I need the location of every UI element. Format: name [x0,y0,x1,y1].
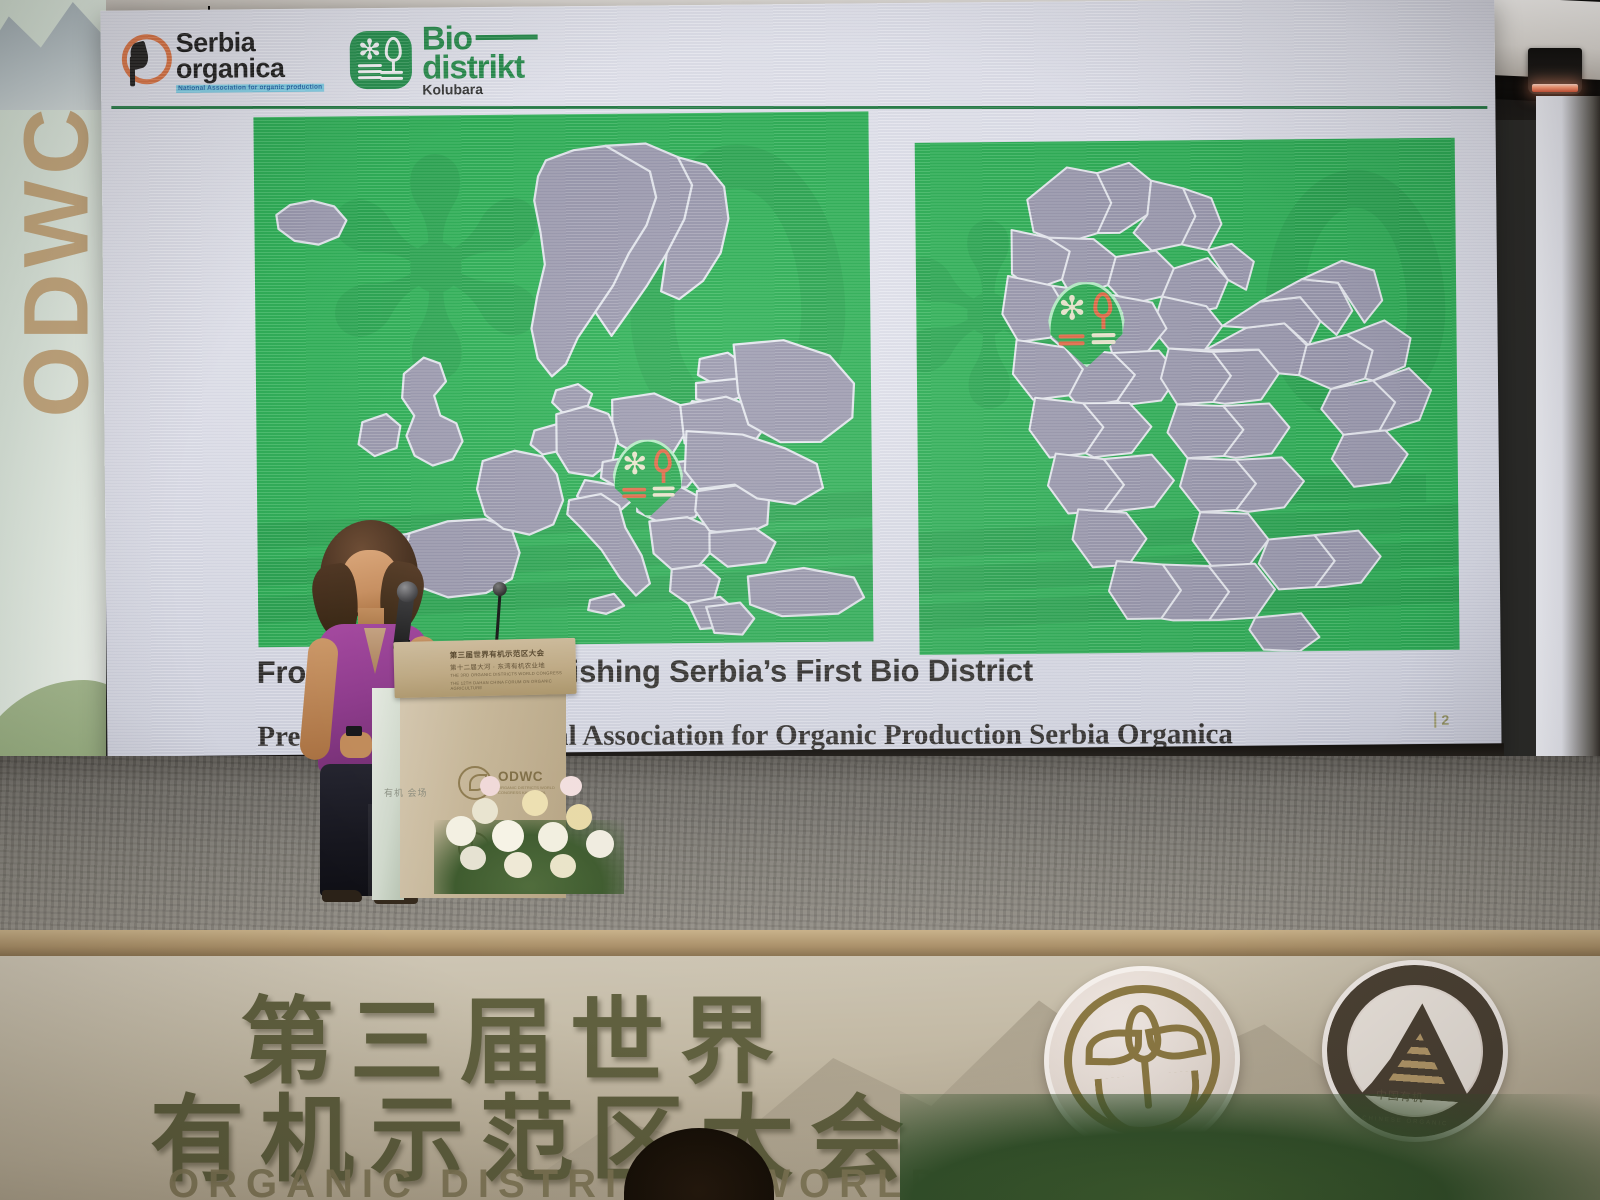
bio-distrikt-line2: distrikt [422,51,538,81]
left-wall-banner: ODWC [0,0,106,800]
starburst-icon: ✻ [622,452,646,476]
conference-stage-photo: ODWC Serbia organica National Associatio… [0,0,1600,1200]
flower [560,776,582,796]
speaker-left-shoe [322,890,362,902]
starburst-icon: ✻ [1058,295,1084,321]
wave-icon [358,70,382,73]
bio-distrikt-wordmark: Bio distrikt Kolubara [422,22,539,95]
serbia-organica-mark-icon [119,34,172,90]
wave-icon [1059,341,1085,345]
podium-side-text: 有机 会场 [384,788,428,799]
field-line-icon [380,76,403,80]
bio-district-map-pin: ✻ [1047,281,1126,368]
flower [538,822,568,852]
field-line-icon [380,70,403,74]
slide-page-number: 2 [1434,712,1449,728]
right-wall [1536,96,1600,776]
field-line-icon [1092,333,1116,337]
bio-distrikt-mark-icon: ✻ [350,31,413,90]
flower [550,854,576,878]
flower [522,790,548,816]
odwc-vertical-text: ODWC [5,148,107,418]
field-line-icon [1092,340,1116,344]
banner-mountain-graphic [0,0,106,110]
wave-icon [622,488,646,492]
bio-district-map-pin: ✻ [612,439,685,519]
leaf-icon [1085,1029,1142,1066]
bio-distrikt-logo: ✻ Bio distrikt Kolubara [350,22,539,96]
serbia-map: ✻ [915,138,1460,655]
flower [566,804,592,830]
flower [460,846,486,870]
podium-header-cn1: 第三届世界有机示范区大会 [450,648,545,661]
leaf-stem-icon [130,56,135,86]
flower [472,798,498,824]
leaf-stem-icon [662,470,666,483]
field-line-icon [653,493,675,497]
stage-light [1528,48,1582,94]
wave-icon [1059,334,1085,338]
wave-icon [358,76,382,79]
banner-greenery [900,1094,1600,1200]
leaf-stem-icon [1101,315,1105,329]
wordmark-dash [476,34,538,40]
presentation-clicker [346,726,362,736]
field-line-icon [653,486,675,490]
podium-flower-arrangement [434,768,624,894]
flower [492,820,524,852]
flower [586,830,614,858]
slide-logo-bar: Serbia organica National Association for… [118,11,538,111]
serbia-organica-logo: Serbia organica National Association for… [119,30,325,93]
flower [446,816,476,846]
wave-icon [622,494,646,498]
starburst-icon: ✻ [358,39,380,61]
flower [504,852,532,878]
wave-icon [358,64,382,67]
slide-divider-rule [111,106,1487,109]
serbia-organica-wordmark: Serbia organica National Association for… [176,30,325,93]
podium-header-en2: THE 12TH DAHAN CHINA FORUM ON ORGANIC AG… [450,678,576,691]
serbia-organica-tagline: National Association for organic product… [176,83,324,93]
serbia-organica-line2: organica [176,55,324,82]
flower [480,776,500,796]
serbia-district-shapes [915,138,1460,655]
podium-header-plate: 第三届世界有机示范区大会 第十二届大河 · 东湾有机农业地 THE 3RD OR… [393,638,576,698]
